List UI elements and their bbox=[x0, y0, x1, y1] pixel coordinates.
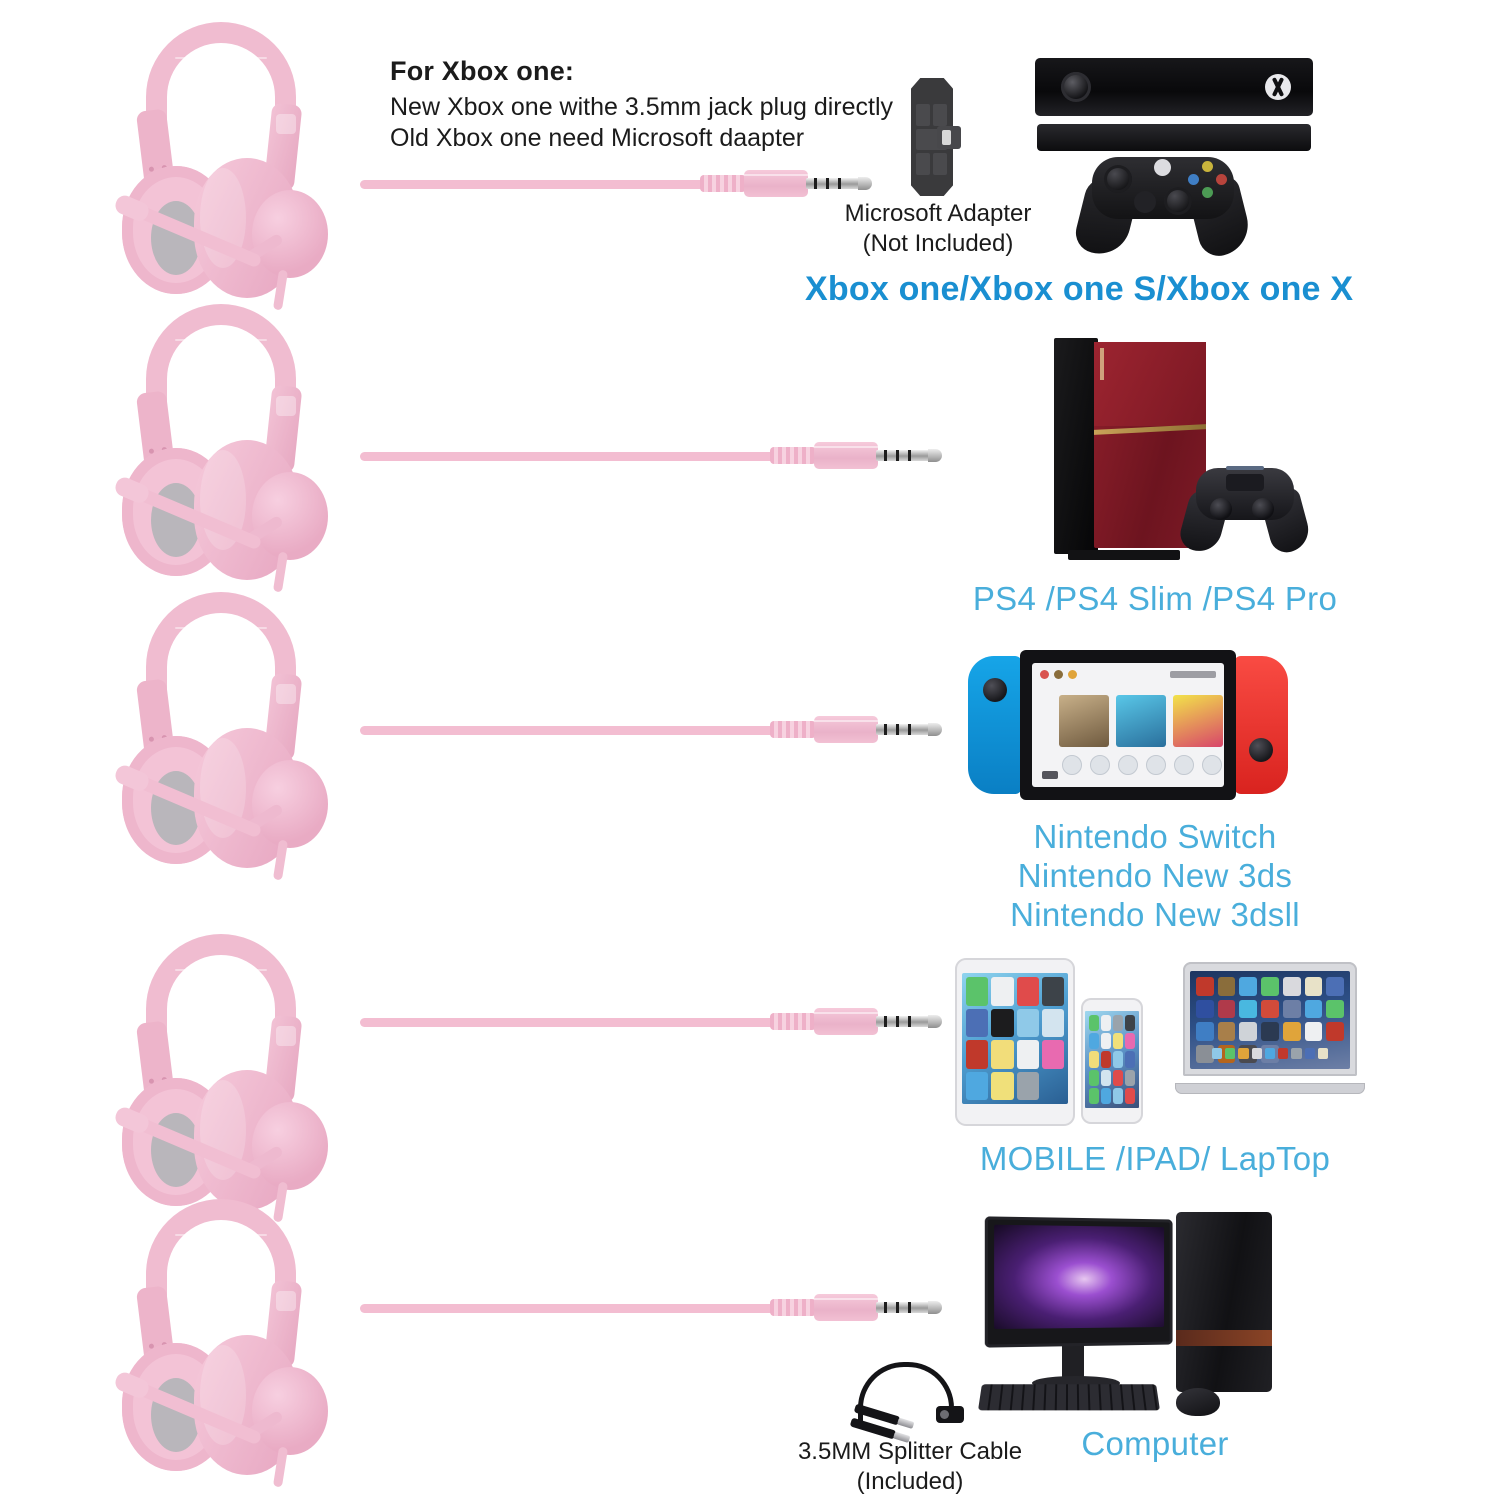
app-icon bbox=[1125, 1033, 1135, 1049]
brand-badge bbox=[276, 684, 296, 704]
app-icon bbox=[1017, 1072, 1039, 1101]
desktop-icon bbox=[1326, 977, 1344, 996]
jack-tip bbox=[928, 1301, 942, 1314]
joycon-right bbox=[1234, 656, 1288, 794]
caption-switch-line3: Nintendo New 3dsll bbox=[955, 896, 1355, 934]
app-icon bbox=[1125, 1088, 1135, 1104]
earcup-outer-disc bbox=[252, 190, 328, 278]
earcup-outer-disc bbox=[252, 760, 328, 848]
dock-icon bbox=[1225, 1048, 1235, 1059]
xbox-note-heading: For Xbox one: bbox=[390, 56, 574, 87]
app-grid bbox=[966, 977, 1064, 1100]
joycon-left bbox=[968, 656, 1022, 794]
cable-strain-relief bbox=[770, 721, 816, 738]
dock-icon bbox=[1278, 1048, 1288, 1059]
news-icon bbox=[1090, 755, 1110, 775]
macbook-laptop bbox=[1175, 962, 1365, 1094]
audio-jack-computer bbox=[770, 1290, 946, 1324]
jack-tip bbox=[928, 723, 942, 736]
desktop-icon bbox=[1261, 1000, 1279, 1019]
xbox-guide-button-icon bbox=[1154, 159, 1171, 176]
game-tile-2 bbox=[1116, 695, 1166, 747]
ps4-console bbox=[1030, 334, 1310, 564]
desktop-icon bbox=[1239, 1000, 1257, 1019]
desktop-icon bbox=[1239, 977, 1257, 996]
brand-badge bbox=[276, 396, 296, 416]
app-icon bbox=[966, 1040, 988, 1069]
settings-icon bbox=[1174, 755, 1194, 775]
jack-housing bbox=[814, 716, 878, 743]
xbox-note-line1: New Xbox one withe 3.5mm jack plug direc… bbox=[390, 93, 893, 122]
app-icon bbox=[991, 1009, 1013, 1038]
jack-contacts bbox=[876, 1016, 934, 1027]
adapter-audio-port bbox=[937, 126, 961, 149]
console-side-panel bbox=[1054, 338, 1098, 554]
splitter-label-line1: 3.5MM Splitter Cable bbox=[790, 1438, 1030, 1466]
switch-console-body bbox=[1020, 650, 1236, 800]
switch-screen bbox=[1032, 663, 1224, 787]
app-icon bbox=[1125, 1015, 1135, 1031]
monitor-screen-wallpaper bbox=[994, 1225, 1164, 1329]
audio-cable-ps4 bbox=[360, 452, 780, 461]
status-bar bbox=[1170, 671, 1216, 678]
desktop-monitor bbox=[985, 1216, 1173, 1347]
controllers-icon bbox=[1146, 755, 1166, 775]
sony-logo-icon bbox=[1100, 348, 1104, 380]
caption-switch-line2: Nintendo New 3ds bbox=[955, 857, 1355, 895]
app-icon bbox=[991, 977, 1013, 1006]
jack-contacts bbox=[876, 1302, 934, 1313]
dock-icon bbox=[1238, 1048, 1248, 1059]
nintendo-switch bbox=[968, 650, 1288, 800]
lightbar-icon bbox=[1226, 466, 1264, 470]
audio-cable-computer bbox=[360, 1304, 780, 1313]
app-icon bbox=[1101, 1015, 1111, 1031]
desktop-icon bbox=[1218, 1022, 1236, 1041]
dock-icon bbox=[1318, 1048, 1328, 1059]
laptop-dock bbox=[1212, 1048, 1328, 1059]
jack-housing bbox=[814, 442, 878, 469]
jack-tip bbox=[928, 449, 942, 462]
console-stand bbox=[1068, 550, 1180, 560]
avatar-1 bbox=[1040, 670, 1049, 679]
headset-row-mobile bbox=[100, 930, 340, 1215]
adapter-button-4 bbox=[916, 153, 930, 175]
adapter-label-line1: Microsoft Adapter bbox=[843, 200, 1033, 228]
app-icon bbox=[1089, 1070, 1099, 1086]
thumbstick-left bbox=[1210, 498, 1232, 520]
app-icon bbox=[1042, 1009, 1064, 1038]
album-icon bbox=[1118, 755, 1138, 775]
desktop-icon bbox=[1283, 977, 1301, 996]
sensor-bar-body bbox=[1035, 58, 1313, 116]
splitter-label-line2: (Included) bbox=[790, 1468, 1030, 1496]
desktop-icon bbox=[1305, 1000, 1323, 1019]
app-icon bbox=[1042, 977, 1064, 1006]
battery-indicator bbox=[1042, 771, 1058, 779]
jack-contact-ring bbox=[908, 724, 911, 735]
desktop-icon bbox=[1305, 977, 1323, 996]
desktop-icon bbox=[1196, 977, 1214, 996]
app-icon bbox=[1017, 977, 1039, 1006]
jack-housing bbox=[814, 1294, 878, 1321]
app-icon bbox=[966, 977, 988, 1006]
brand-badge bbox=[276, 1026, 296, 1046]
cable-strain-relief bbox=[770, 447, 816, 464]
desktop-computer bbox=[980, 1212, 1280, 1427]
audio-cable-mobile bbox=[360, 1018, 780, 1027]
thumbstick-left bbox=[1104, 165, 1132, 193]
cable-strain-relief bbox=[770, 1013, 816, 1030]
kinect-sensor-bar bbox=[1035, 58, 1313, 153]
ipad-tablet bbox=[955, 958, 1075, 1126]
xbox-note-line2: Old Xbox one need Microsoft daapter bbox=[390, 124, 804, 153]
jack-housing bbox=[814, 1008, 878, 1035]
iphone-smartphone bbox=[1081, 998, 1143, 1124]
app-icon bbox=[991, 1072, 1013, 1101]
cable-strain-relief bbox=[770, 1299, 816, 1316]
adapter-button-2 bbox=[933, 104, 947, 126]
dualshock-controller bbox=[1180, 462, 1310, 558]
app-icon bbox=[966, 1072, 988, 1101]
mouse bbox=[1176, 1388, 1220, 1416]
laptop-lid bbox=[1183, 962, 1357, 1076]
audio-cable-switch bbox=[360, 726, 780, 735]
headset-row-switch bbox=[100, 588, 340, 873]
app-icon bbox=[1125, 1070, 1135, 1086]
microsoft-adapter-icon bbox=[903, 78, 961, 196]
console-top-panel bbox=[1094, 342, 1206, 426]
desktop-icon bbox=[1196, 1000, 1214, 1019]
caption-computer: Computer bbox=[1010, 1425, 1300, 1463]
app-icon bbox=[1113, 1088, 1123, 1104]
desktop-icon bbox=[1261, 1022, 1279, 1041]
user-avatars bbox=[1040, 670, 1077, 679]
laptop-base bbox=[1175, 1083, 1365, 1094]
caption-switch-line1: Nintendo Switch bbox=[955, 818, 1355, 856]
app-icon bbox=[991, 1040, 1013, 1069]
earcup-outer-disc bbox=[252, 1102, 328, 1190]
system-icon-row bbox=[1062, 755, 1222, 775]
button-x bbox=[1188, 174, 1199, 185]
app-icon bbox=[1089, 1051, 1099, 1067]
tower-accent-panel bbox=[1176, 1330, 1272, 1346]
xbox-logo-icon bbox=[1265, 74, 1291, 100]
button-a bbox=[1202, 187, 1213, 198]
xbox-controller bbox=[1078, 145, 1248, 257]
face-buttons bbox=[1188, 161, 1228, 199]
desktop-icon bbox=[1196, 1022, 1214, 1041]
game-tiles bbox=[1059, 695, 1223, 747]
power-icon bbox=[1202, 755, 1222, 775]
jack-housing bbox=[744, 170, 808, 197]
jack-contact-ring bbox=[908, 450, 911, 461]
app-grid bbox=[1089, 1015, 1135, 1104]
jack-tip bbox=[928, 1015, 942, 1028]
caption-mobile: MOBILE /IPAD/ LapTop bbox=[955, 1140, 1355, 1178]
desktop-icon bbox=[1326, 1000, 1344, 1019]
ipad-screen bbox=[962, 973, 1068, 1104]
audio-cable-xbox bbox=[360, 180, 712, 189]
headset-row-ps4 bbox=[100, 300, 340, 585]
monitor-stand bbox=[1062, 1344, 1084, 1380]
laptop-screen bbox=[1190, 971, 1350, 1069]
audio-jack-mobile bbox=[770, 1004, 946, 1038]
joycon-stick-right bbox=[1249, 738, 1273, 762]
dock-icon bbox=[1252, 1048, 1262, 1059]
audio-jack-switch bbox=[770, 712, 946, 746]
jack-contact-ring bbox=[908, 1016, 911, 1027]
caption-xbox: Xbox one/Xbox one S/Xbox one X bbox=[805, 270, 1353, 309]
desktop-icon bbox=[1326, 1022, 1344, 1041]
app-icon bbox=[1113, 1015, 1123, 1031]
pc-tower bbox=[1176, 1212, 1272, 1392]
keyboard bbox=[978, 1384, 1160, 1410]
desktop-icon bbox=[1218, 977, 1236, 996]
app-icon bbox=[1101, 1033, 1111, 1049]
brand-badge bbox=[276, 114, 296, 134]
button-y bbox=[1202, 161, 1213, 172]
adapter-button-5 bbox=[933, 153, 947, 175]
avatar-3 bbox=[1068, 670, 1077, 679]
app-icon bbox=[1042, 1072, 1064, 1101]
jack-tip bbox=[858, 177, 872, 190]
dpad-icon bbox=[1134, 191, 1156, 213]
desktop-icon bbox=[1283, 1022, 1301, 1041]
desktop-icon bbox=[1283, 1000, 1301, 1019]
app-icon bbox=[1042, 1040, 1064, 1069]
thumbstick-right bbox=[1252, 498, 1274, 520]
cable-strain-relief bbox=[700, 175, 746, 192]
joycon-stick-left bbox=[983, 678, 1007, 702]
dock-icon bbox=[1305, 1048, 1315, 1059]
app-icon bbox=[1113, 1070, 1123, 1086]
avatar-2 bbox=[1054, 670, 1063, 679]
jack-contact-ring bbox=[908, 1302, 911, 1313]
dock-icon bbox=[1291, 1048, 1301, 1059]
splitter-cable bbox=[848, 1360, 968, 1446]
camera-lens-icon bbox=[1061, 72, 1091, 102]
desktop-icon bbox=[1326, 1045, 1344, 1064]
app-icon bbox=[966, 1009, 988, 1038]
jack-contacts bbox=[876, 724, 934, 735]
splitter-female-socket bbox=[936, 1406, 964, 1423]
iphone-screen bbox=[1085, 1011, 1139, 1108]
app-icon bbox=[1017, 1009, 1039, 1038]
desktop-icon bbox=[1239, 1022, 1257, 1041]
adapter-button-1 bbox=[916, 104, 930, 126]
headset-row-xbox bbox=[100, 18, 340, 303]
app-icon bbox=[1089, 1033, 1099, 1049]
app-icon bbox=[1125, 1051, 1135, 1067]
caption-ps4: PS4 /PS4 Slim /PS4 Pro bbox=[955, 580, 1355, 618]
audio-jack-xbox bbox=[700, 166, 876, 200]
earcup-outer-disc bbox=[252, 1367, 328, 1455]
app-icon bbox=[1113, 1033, 1123, 1049]
game-tile-3 bbox=[1173, 695, 1223, 747]
headset-row-computer bbox=[100, 1195, 340, 1480]
adapter-label-line2: (Not Included) bbox=[843, 230, 1033, 258]
desktop-icon bbox=[1305, 1022, 1323, 1041]
dock-icon bbox=[1265, 1048, 1275, 1059]
desktop-icon bbox=[1261, 977, 1279, 996]
desktop-icon bbox=[1218, 1000, 1236, 1019]
touchpad bbox=[1226, 474, 1264, 491]
eshop-icon bbox=[1062, 755, 1082, 775]
brand-badge bbox=[276, 1291, 296, 1311]
app-icon bbox=[1089, 1015, 1099, 1031]
game-tile-1 bbox=[1059, 695, 1109, 747]
app-icon bbox=[1113, 1051, 1123, 1067]
jack-contacts bbox=[806, 178, 864, 189]
button-b bbox=[1216, 174, 1227, 185]
jack-contacts bbox=[876, 450, 934, 461]
app-icon bbox=[1101, 1051, 1111, 1067]
app-icon bbox=[1089, 1088, 1099, 1104]
jack-contact-ring bbox=[838, 178, 841, 189]
earcup-outer-disc bbox=[252, 472, 328, 560]
app-icon bbox=[1017, 1040, 1039, 1069]
app-icon bbox=[1101, 1070, 1111, 1086]
compatibility-chart: For Xbox one: New Xbox one withe 3.5mm j… bbox=[0, 0, 1500, 1500]
dock-icon bbox=[1212, 1048, 1222, 1059]
app-icon bbox=[1101, 1088, 1111, 1104]
audio-jack-ps4 bbox=[770, 438, 946, 472]
